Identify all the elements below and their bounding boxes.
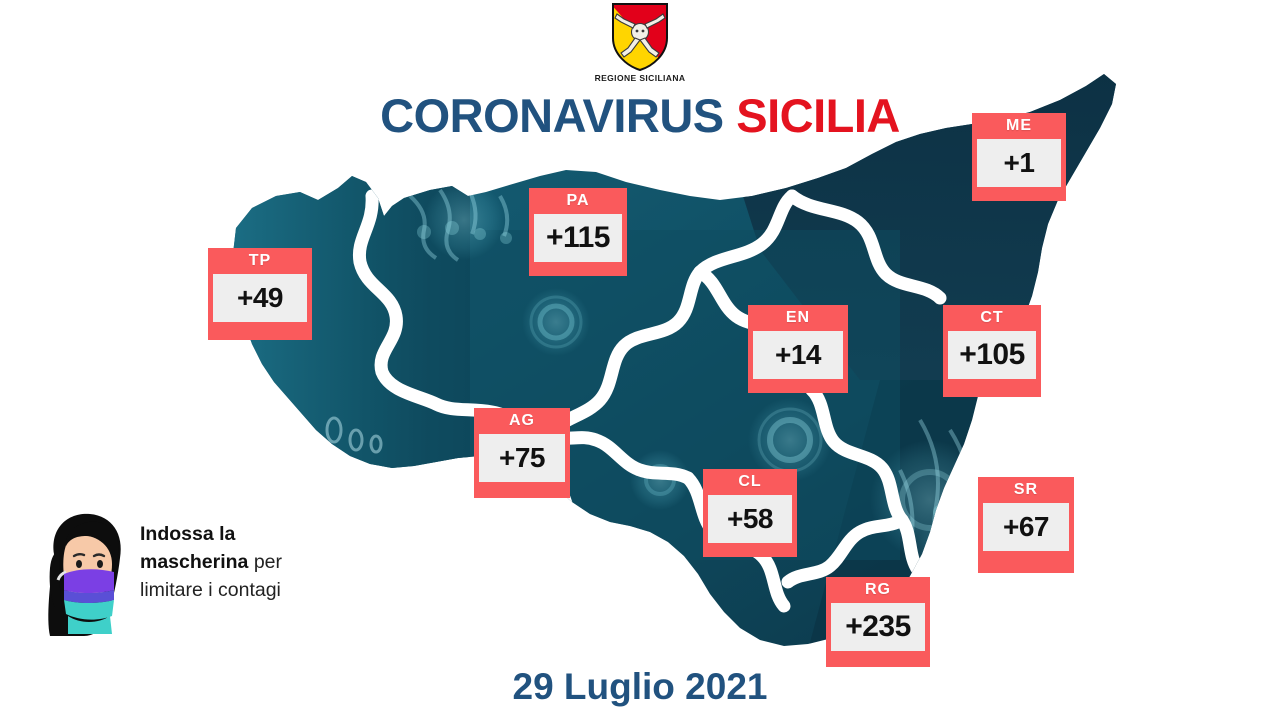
title-sicilia: SICILIA	[736, 89, 900, 142]
badge-code: SR	[978, 482, 1074, 499]
badge-code: AG	[474, 413, 570, 430]
badge-sr[interactable]: SR+67	[978, 477, 1074, 573]
regione-siciliana-logo: REGIONE SICILIANA	[585, 2, 695, 83]
badge-value: +235	[831, 603, 925, 651]
infographic-root: REGIONE SICILIANA CORONAVIRUS SICILIA TP…	[0, 0, 1280, 720]
mask-line2: mascherina	[140, 551, 248, 573]
badge-code: PA	[529, 193, 627, 210]
badge-code: CL	[703, 474, 797, 491]
badge-code: ME	[972, 118, 1066, 135]
badge-value: +49	[213, 274, 307, 322]
mask-promo-text: Indossa la mascherina per limitare i con…	[140, 520, 370, 604]
badge-ag[interactable]: AG+75	[474, 408, 570, 498]
badge-me[interactable]: ME+1	[972, 113, 1066, 201]
trinacria-icon	[609, 2, 671, 72]
badge-code: RG	[826, 582, 930, 599]
title-coronavirus: CORONAVIRUS	[380, 89, 724, 142]
badge-value: +1	[977, 139, 1061, 187]
mask-line1: Indossa la	[140, 523, 235, 545]
badge-pa[interactable]: PA+115	[529, 188, 627, 276]
badge-code: TP	[208, 253, 312, 270]
badge-value: +105	[948, 331, 1036, 379]
badge-tp[interactable]: TP+49	[208, 248, 312, 340]
badge-code: EN	[748, 310, 848, 327]
badge-value: +75	[479, 434, 565, 482]
badge-value: +14	[753, 331, 843, 379]
badge-value: +58	[708, 495, 792, 543]
mask-promo: Indossa la mascherina per limitare i con…	[36, 506, 366, 638]
badge-cl[interactable]: CL+58	[703, 469, 797, 557]
logo-caption: REGIONE SICILIANA	[585, 73, 695, 83]
badge-value: +115	[534, 214, 622, 262]
mask-line3: limitare i contagi	[140, 579, 281, 601]
woman-wearing-mask-icon	[36, 506, 136, 636]
report-date: 29 Luglio 2021	[0, 666, 1280, 708]
page-title: CORONAVIRUS SICILIA	[0, 92, 1280, 139]
badge-value: +67	[983, 503, 1069, 551]
mask-line2-rest: per	[248, 551, 282, 573]
badge-en[interactable]: EN+14	[748, 305, 848, 393]
badge-ct[interactable]: CT+105	[943, 305, 1041, 397]
badge-rg[interactable]: RG+235	[826, 577, 930, 667]
badge-code: CT	[943, 310, 1041, 327]
